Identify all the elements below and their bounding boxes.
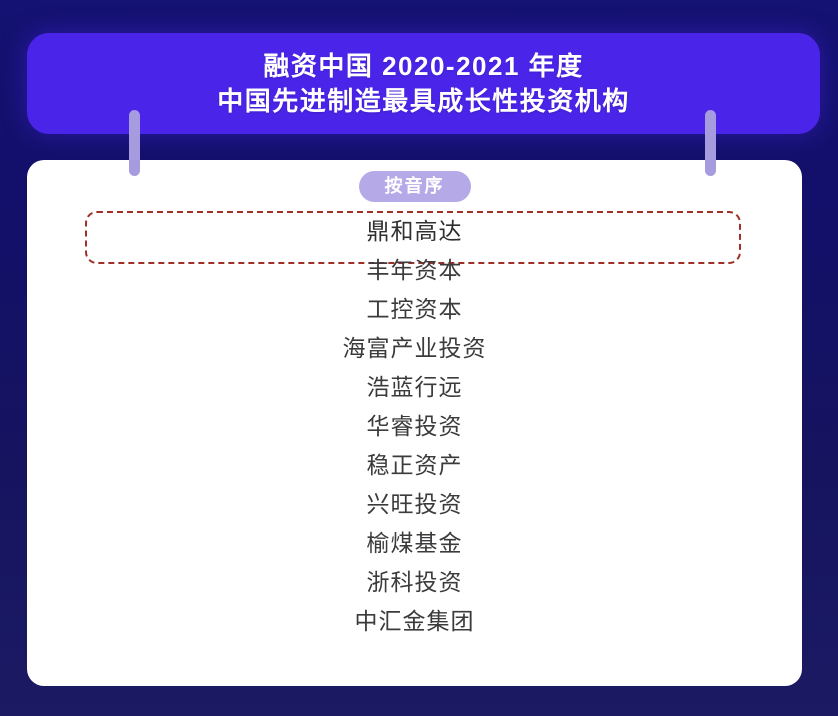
institution-name: 华睿投资 [367,415,463,438]
list-item: 浩蓝行远 [27,368,802,407]
list-item: 中汇金集团 [27,602,802,641]
list-item: 稳正资产 [27,446,802,485]
title-banner: 融资中国 2020-2021 年度 中国先进制造最具成长性投资机构 [27,33,820,134]
institution-name: 工控资本 [367,298,463,321]
sort-order-badge: 按音序 [359,171,471,202]
institution-name: 丰年资本 [367,259,463,282]
banner-title-line-2: 中国先进制造最具成长性投资机构 [217,84,630,118]
connector-bar-right [705,110,716,176]
list-item: 浙科投资 [27,563,802,602]
poster-stage: 融资中国 2020-2021 年度 中国先进制造最具成长性投资机构 按音序 鼎和… [0,0,838,716]
list-item: 工控资本 [27,290,802,329]
list-item: 海富产业投资 [27,329,802,368]
institution-name: 兴旺投资 [367,493,463,516]
list-item: 鼎和高达 [27,212,802,251]
list-item: 丰年资本 [27,251,802,290]
institution-name: 中汇金集团 [355,610,475,633]
institution-name: 浙科投资 [367,571,463,594]
award-list-card: 按音序 鼎和高达丰年资本工控资本海富产业投资浩蓝行远华睿投资稳正资产兴旺投资榆煤… [27,160,802,686]
list-item: 兴旺投资 [27,485,802,524]
institution-name: 稳正资产 [367,454,463,477]
list-item: 华睿投资 [27,407,802,446]
institution-name: 鼎和高达 [367,220,463,243]
institution-name: 浩蓝行远 [367,376,463,399]
badge-container: 按音序 [27,171,802,202]
institution-name: 榆煤基金 [367,532,463,555]
institution-list: 鼎和高达丰年资本工控资本海富产业投资浩蓝行远华睿投资稳正资产兴旺投资榆煤基金浙科… [27,212,802,641]
list-item: 榆煤基金 [27,524,802,563]
institution-name: 海富产业投资 [343,337,487,360]
banner-title-line-1: 融资中国 2020-2021 年度 [263,49,583,83]
connector-bar-left [129,110,140,176]
